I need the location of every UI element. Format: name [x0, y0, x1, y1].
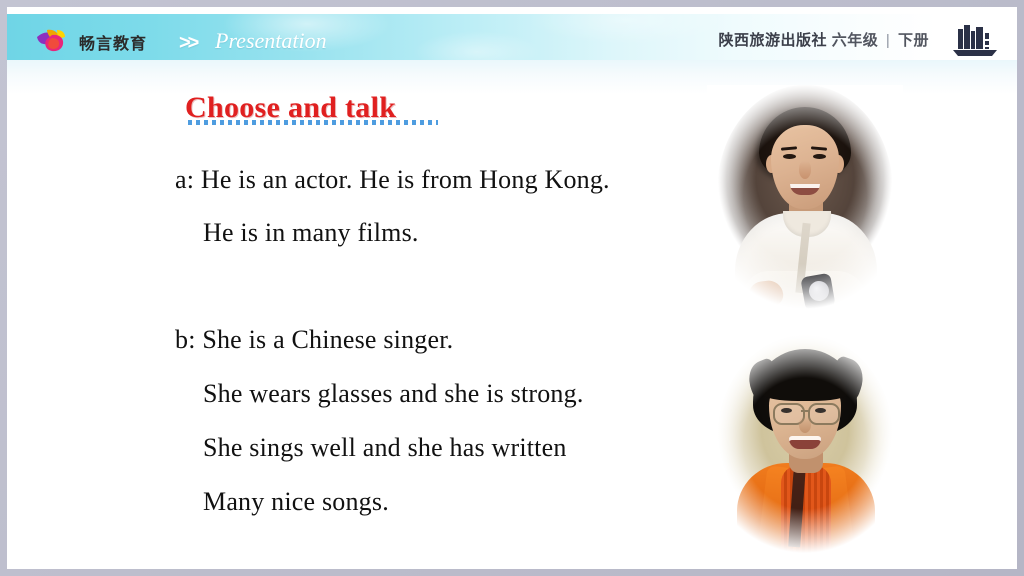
grade-label: 六年级	[832, 32, 879, 49]
dialogue-line-a1: a: He is an actor. He is from Hong Kong.	[175, 165, 610, 195]
title-dotted-underline	[188, 120, 438, 125]
singer-mouth	[789, 436, 821, 449]
actor-figure	[707, 85, 903, 317]
slide-canvas: 畅言教育 >> Presentation 陕西旅游出版社 六年级 | 下册	[7, 7, 1017, 569]
volume-label: 下册	[898, 32, 929, 49]
dialogue-line-b2: She wears glasses and she is strong.	[203, 379, 584, 409]
singer-nose	[799, 417, 811, 433]
publisher-name: 陕西旅游出版社	[719, 32, 828, 49]
dialogue-line-b3: She sings well and she has written	[203, 433, 567, 463]
header-separator: |	[886, 32, 890, 49]
dialogue-line-b4: Many nice songs.	[203, 487, 389, 517]
brand-name-cn: 畅言教育	[79, 30, 147, 54]
actor-portrait	[707, 85, 903, 317]
books-on-shelf-icon	[951, 23, 999, 57]
bird-logo-icon	[33, 28, 73, 54]
singer-glasses-bridge	[801, 410, 810, 412]
actor-eye-right	[813, 154, 826, 159]
actor-nose	[799, 161, 811, 179]
singer-portrait	[707, 335, 903, 561]
singer-shirt	[781, 465, 831, 561]
dialogue-line-b1: b: She is a Chinese singer.	[175, 325, 453, 355]
actor-eye-left	[783, 154, 796, 159]
slide-frame: 畅言教育 >> Presentation 陕西旅游出版社 六年级 | 下册	[0, 0, 1024, 576]
publisher-info: 陕西旅游出版社 六年级 | 下册	[719, 29, 929, 50]
presentation-label: Presentation	[215, 28, 327, 54]
singer-glasses-lens-right	[808, 403, 840, 425]
dialogue-line-a2: He is in many films.	[203, 218, 419, 248]
singer-figure	[707, 335, 903, 561]
chevron-right-double-icon: >>	[179, 32, 196, 55]
